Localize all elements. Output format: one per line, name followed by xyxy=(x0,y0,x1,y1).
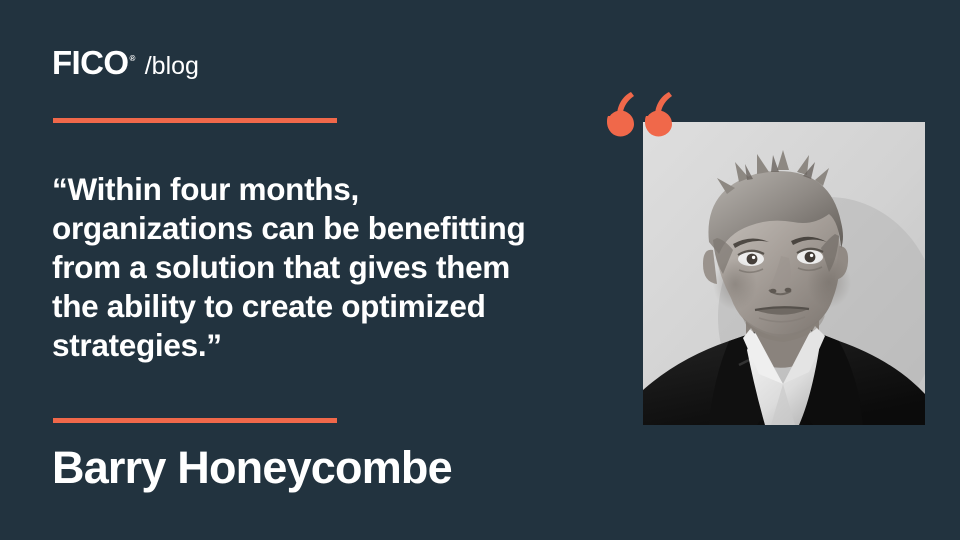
fico-logo: FICO® xyxy=(52,46,134,79)
blog-label: /blog xyxy=(145,54,199,79)
quote-line: strategies.” xyxy=(52,326,592,365)
quote-line: “Within four months, xyxy=(52,170,592,209)
divider-top xyxy=(53,118,337,123)
quote-line: the ability to create optimized xyxy=(52,287,592,326)
quote-card: FICO® /blog “Within four months, organiz… xyxy=(0,0,960,540)
brand-lockup[interactable]: FICO® /blog xyxy=(52,46,199,79)
quote-line: from a solution that gives them xyxy=(52,248,592,287)
divider-bottom xyxy=(53,418,337,423)
author-name: Barry Honeycombe xyxy=(52,444,452,491)
fico-logo-text: FICO xyxy=(52,44,128,81)
registered-trademark-icon: ® xyxy=(129,54,134,63)
quote-line: organizations can be benefitting xyxy=(52,209,592,248)
quote-text: “Within four months, organizations can b… xyxy=(52,170,592,365)
double-quote-icon xyxy=(598,92,676,156)
author-photo xyxy=(643,122,925,425)
